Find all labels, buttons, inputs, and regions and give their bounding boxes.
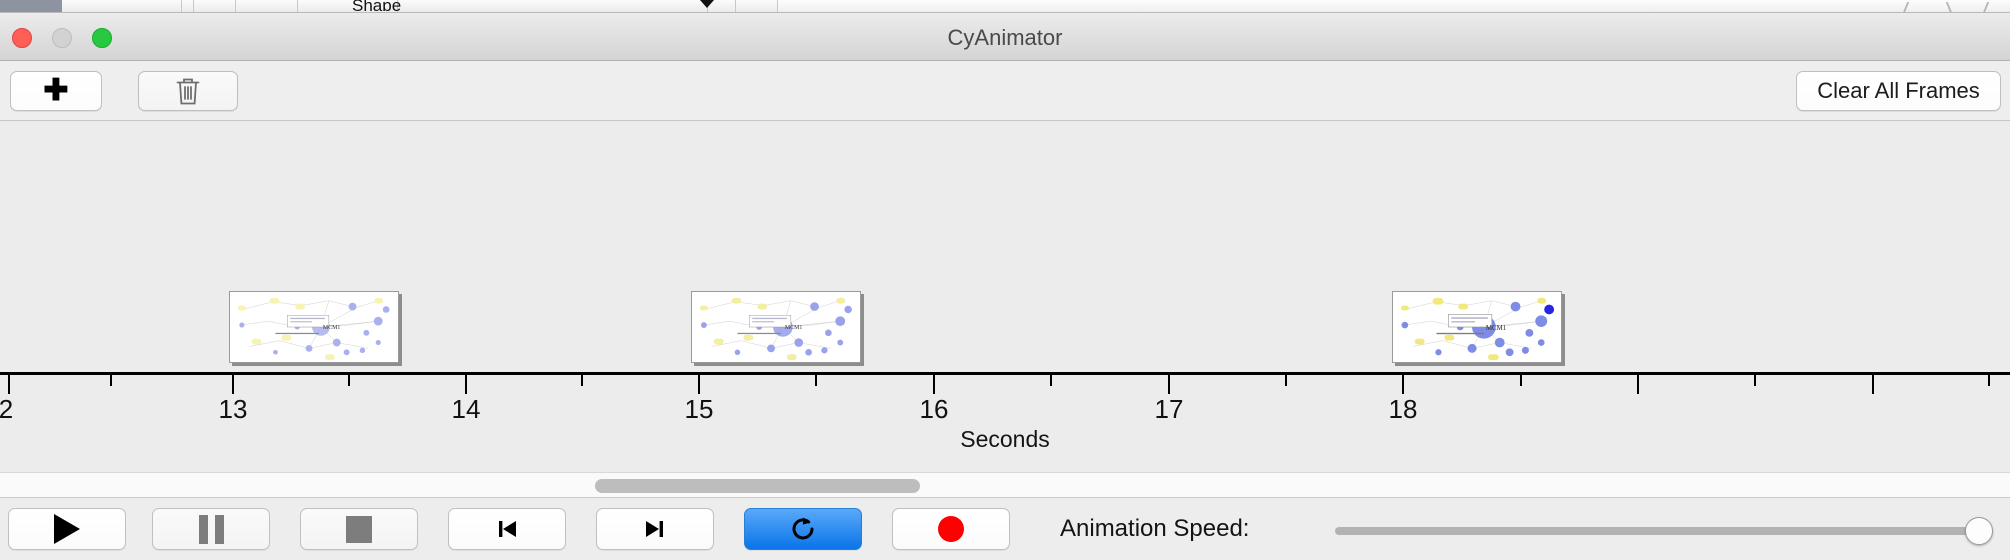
axis-line (0, 372, 2010, 375)
axis-tick-label: 13 (219, 394, 248, 425)
background-window-label: Shape (352, 0, 401, 11)
background-segment (398, 0, 708, 13)
axis-tick-label: 18 (1389, 394, 1418, 425)
background-caret-icon (700, 0, 714, 8)
animation-speed-slider-thumb[interactable] (1965, 517, 1993, 545)
record-button[interactable] (892, 508, 1010, 550)
timeline-scrollbar-thumb[interactable] (595, 479, 920, 493)
timeline-axis: 2 13 14 15 16 17 18 Seconds (0, 372, 2010, 472)
axis-tick-major (465, 375, 467, 394)
axis-tick-label: 2 (0, 394, 13, 425)
axis-tick-label: 17 (1155, 394, 1184, 425)
background-slash-icon (1903, 2, 1923, 13)
background-window-strip: Shape (0, 0, 2010, 13)
svg-text:MCM1: MCM1 (785, 325, 803, 331)
pause-icon (199, 515, 224, 544)
axis-tick-major (1637, 375, 1639, 394)
delete-frame-button[interactable] (138, 71, 238, 111)
axis-tick-major (1402, 375, 1404, 394)
axis-tick-label: 15 (685, 394, 714, 425)
axis-tick-minor (1988, 375, 1990, 386)
timeline-frame-thumbnail[interactable]: MCM1 (1392, 291, 1562, 363)
skip-to-end-button[interactable] (596, 508, 714, 550)
timeline-frame-thumbnail[interactable]: MCM1 (691, 291, 861, 363)
stop-icon (346, 516, 372, 543)
network-graph-thumbnail: MCM1 (230, 292, 398, 362)
skip-forward-icon (640, 514, 670, 544)
axis-tick-major (698, 375, 700, 394)
background-slash-icon (1946, 2, 1966, 13)
axis-tick-minor (1050, 375, 1052, 386)
trash-icon (175, 76, 201, 106)
background-segment (194, 0, 236, 13)
axis-tick-label: 14 (452, 394, 481, 425)
pause-button[interactable] (152, 508, 270, 550)
stop-button[interactable] (300, 508, 418, 550)
axis-tick-major (933, 375, 935, 394)
timeline-scrollbar[interactable] (0, 472, 2010, 498)
axis-tick-major (1872, 375, 1874, 394)
axis-tick-major (8, 375, 10, 394)
title-bar: CyAnimator (0, 13, 2010, 61)
play-icon (54, 514, 80, 544)
timeline-frame-thumbnail[interactable]: MCM1 (229, 291, 399, 363)
background-segment (736, 0, 778, 13)
axis-title: Seconds (0, 426, 2010, 453)
timeline-frames-area[interactable]: MCM1 (0, 121, 2010, 372)
window-title: CyAnimator (0, 25, 2010, 51)
background-segment (182, 0, 194, 13)
network-graph-thumbnail: MCM1 (1393, 292, 1561, 362)
add-frame-button[interactable]: ✚ (10, 71, 102, 111)
toolbar: ✚ Clear All Frames (0, 61, 2010, 121)
background-segment (236, 0, 298, 13)
skip-back-icon (492, 514, 522, 544)
background-sidebar-sliver (0, 0, 62, 13)
transport-bar: Animation Speed: (0, 498, 2010, 560)
loop-icon (787, 513, 819, 545)
clear-all-frames-button[interactable]: Clear All Frames (1796, 71, 2001, 111)
network-graph-thumbnail: MCM1 (692, 292, 860, 362)
axis-tick-minor (581, 375, 583, 386)
animation-speed-label: Animation Speed: (1060, 515, 1249, 543)
svg-text:MCM1: MCM1 (1486, 325, 1507, 332)
loop-button[interactable] (744, 508, 862, 550)
axis-tick-minor (348, 375, 350, 386)
play-button[interactable] (8, 508, 126, 550)
axis-tick-major (1168, 375, 1170, 394)
background-slash-icon (1983, 2, 2003, 13)
axis-tick-major (232, 375, 234, 394)
axis-tick-minor (1754, 375, 1756, 386)
axis-tick-minor (110, 375, 112, 386)
svg-text:MCM1: MCM1 (323, 325, 341, 331)
axis-tick-minor (815, 375, 817, 386)
animation-speed-slider[interactable] (1335, 527, 1993, 535)
background-segment (62, 0, 182, 13)
axis-tick-label: 16 (920, 394, 949, 425)
cyanimator-window: CyAnimator ✚ Clear All Frames (0, 13, 2010, 510)
axis-tick-minor (1520, 375, 1522, 386)
axis-tick-minor (1285, 375, 1287, 386)
skip-to-start-button[interactable] (448, 508, 566, 550)
record-icon (938, 516, 964, 542)
clear-all-frames-label: Clear All Frames (1817, 78, 1980, 104)
